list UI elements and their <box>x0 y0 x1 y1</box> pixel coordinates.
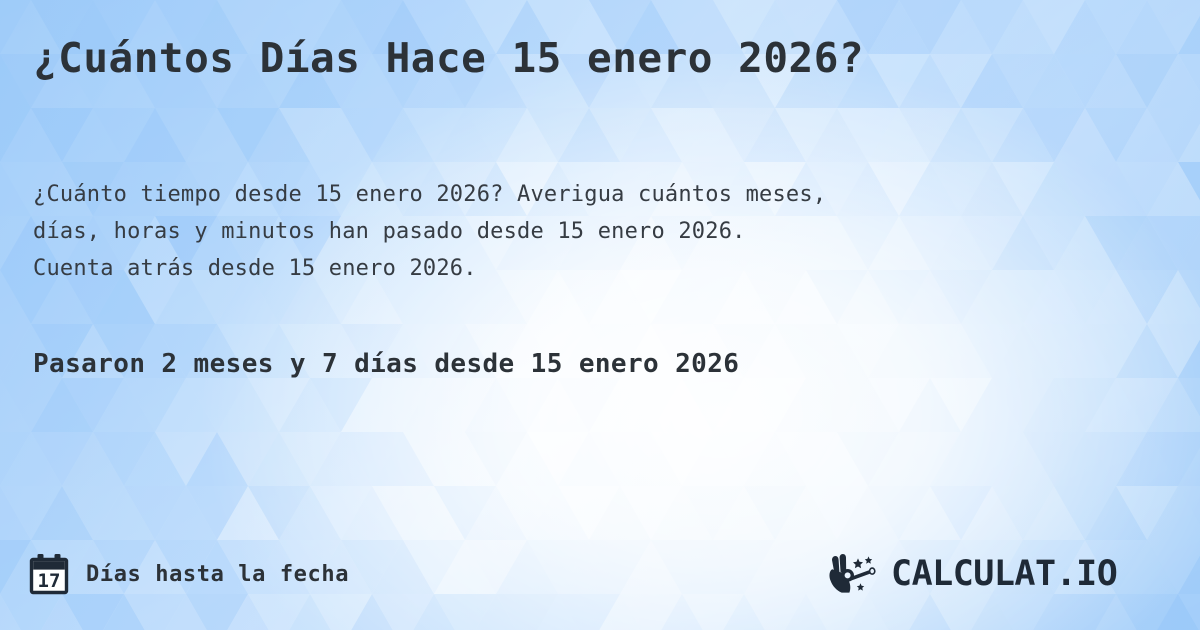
description-line-2: días, horas y minutos han pasado desde 1… <box>33 213 1183 250</box>
social-share-card: ¿Cuántos Días Hace 15 enero 2026? ¿Cuánt… <box>0 0 1200 630</box>
magic-wand-icon <box>827 553 883 595</box>
description-paragraph: ¿Cuánto tiempo desde 15 enero 2026? Aver… <box>33 176 1183 287</box>
calendar-day-number: 17 <box>38 570 61 592</box>
footer-left-group: 17 Días hasta la fecha <box>28 548 349 600</box>
footer-label: Días hasta la fecha <box>86 562 349 587</box>
brand-text: CALCULAT.IO <box>891 554 1117 594</box>
result-text: Pasaron 2 meses y 7 días desde 15 enero … <box>33 347 1183 381</box>
calendar-icon: 17 <box>28 553 70 595</box>
description-line-3: Cuenta atrás desde 15 enero 2026. <box>33 250 1183 287</box>
card-content: ¿Cuántos Días Hace 15 enero 2026? ¿Cuánt… <box>0 0 1200 630</box>
brand-logo[interactable]: CALCULAT.IO <box>827 550 1174 598</box>
card-footer: 17 Días hasta la fecha <box>0 548 1200 606</box>
description-line-1: ¿Cuánto tiempo desde 15 enero 2026? Aver… <box>33 176 1183 213</box>
page-title: ¿Cuántos Días Hace 15 enero 2026? <box>33 33 1163 83</box>
brand-wordmark: CALCULAT.IO <box>891 554 1174 594</box>
